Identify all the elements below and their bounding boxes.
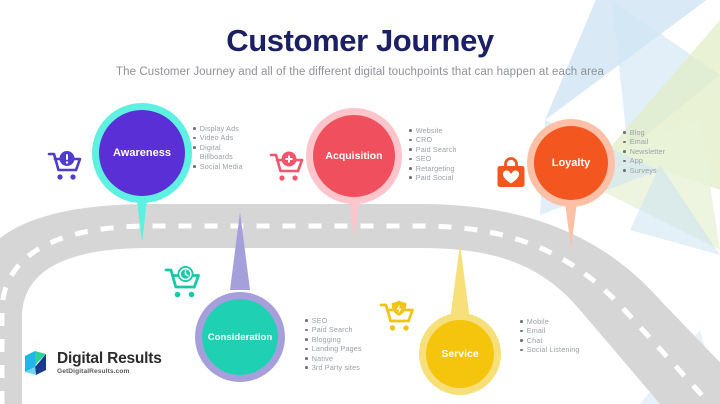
logo-name: Digital Results (57, 350, 162, 367)
touchpoint-label: Social Media (200, 162, 243, 171)
bullet-icon (305, 348, 308, 351)
cart-plus-icon (268, 148, 308, 186)
list-item: SEO (409, 154, 489, 163)
logo-text-block: Digital Results GetDigitalResults.com (57, 350, 162, 376)
touchpoint-label: Newsletter (630, 147, 665, 156)
cart-clock-icon (163, 262, 205, 302)
brand-logo[interactable]: Digital Results GetDigitalResults.com (24, 350, 162, 376)
touchpoint-label: Social Listening (527, 345, 580, 354)
list-item: Email (623, 137, 703, 146)
touchpoint-label: Surveys (630, 166, 657, 175)
list-item: Paid Social (409, 173, 489, 182)
touchpoint-label: SEO (416, 154, 432, 163)
list-item: Social Listening (520, 345, 605, 354)
list-item: Paid Search (409, 145, 489, 154)
stage-pin-service[interactable]: Service (426, 320, 494, 388)
touchpoint-label: Digital (200, 143, 221, 152)
page-title: Customer Journey (0, 22, 720, 60)
touchpoint-label: Email (630, 137, 649, 146)
touchpoint-label: Blog (630, 128, 645, 137)
bullet-icon (305, 329, 308, 332)
list-item: App (623, 156, 703, 165)
list-item: Surveys (623, 166, 703, 175)
bullet-icon (193, 137, 196, 140)
service-circle[interactable]: Service (426, 320, 494, 388)
bullet-icon (623, 169, 626, 172)
touchpoint-label: 3rd Party sites (312, 363, 360, 372)
bullet-icon (305, 338, 308, 341)
service-label: Service (441, 348, 478, 360)
awareness-circle[interactable]: Awareness (99, 110, 185, 196)
touchpoint-label: Landing Pages (312, 344, 362, 353)
list-item: Newsletter (623, 147, 703, 156)
bullet-icon (409, 148, 412, 151)
touchpoint-label: Website (416, 126, 443, 135)
stage-pin-awareness[interactable]: Awareness (99, 110, 185, 196)
stage-pin-loyalty[interactable]: Loyalty (534, 126, 608, 200)
consideration-circle[interactable]: Consideration (202, 299, 278, 375)
touchpoint-label: Email (527, 326, 546, 335)
loyalty-label: Loyalty (552, 157, 591, 169)
list-item: Video Ads (193, 133, 273, 142)
cart-shield-icon (378, 297, 418, 335)
touchpoints-awareness: Display Ads Video Ads Digital Billboards… (193, 124, 273, 171)
pin-tail-consideration (230, 212, 250, 290)
list-item: 3rd Party sites (305, 363, 390, 372)
list-item: Retargeting (409, 164, 489, 173)
touchpoints-acquisition: Website CRO Paid Search SEO Retargeting … (409, 126, 489, 182)
awareness-label: Awareness (113, 147, 171, 159)
acquisition-circle[interactable]: Acquisition (313, 115, 395, 197)
header: Customer Journey The Customer Journey an… (0, 22, 720, 80)
bullet-icon (623, 150, 626, 153)
bullet-icon (623, 160, 626, 163)
touchpoint-label: Video Ads (200, 133, 234, 142)
bullet-icon (623, 141, 626, 144)
touchpoint-label: Native (312, 354, 333, 363)
stage-pin-consideration[interactable]: Consideration (202, 299, 278, 375)
stage-pin-acquisition[interactable]: Acquisition (313, 115, 395, 197)
bullet-icon (305, 366, 308, 369)
touchpoint-label: CRO (416, 135, 432, 144)
bullet-icon (520, 339, 523, 342)
list-item: Display Ads (193, 124, 273, 133)
list-item: Social Media (193, 162, 273, 171)
touchpoint-label: Retargeting (416, 164, 455, 173)
touchpoint-label: Billboards (200, 152, 233, 161)
list-item: Website (409, 126, 489, 135)
list-item: Landing Pages (305, 344, 390, 353)
touchpoint-label: Paid Social (416, 173, 454, 182)
touchpoint-label: Mobile (527, 317, 549, 326)
touchpoint-label: Paid Search (312, 325, 353, 334)
list-item: Native (305, 354, 390, 363)
list-item: CRO (409, 135, 489, 144)
logo-url: GetDigitalResults.com (57, 367, 162, 376)
list-item: Digital (193, 143, 273, 152)
bullet-icon (623, 131, 626, 134)
bullet-icon (305, 319, 308, 322)
cart-alert-icon (46, 147, 86, 185)
bullet-icon (409, 129, 412, 132)
bullet-icon (305, 357, 308, 360)
loyalty-circle[interactable]: Loyalty (534, 126, 608, 200)
bullet-icon (409, 139, 412, 142)
pin-tail-service (450, 244, 470, 320)
bullet-icon (520, 349, 523, 352)
bullet-icon (520, 330, 523, 333)
touchpoint-label: SEO (312, 316, 328, 325)
list-item: Billboards (193, 152, 273, 161)
bullet-icon (409, 158, 412, 161)
bullet-icon (409, 167, 412, 170)
touchpoint-label: Display Ads (200, 124, 239, 133)
touchpoint-label: Paid Search (416, 145, 457, 154)
bullet-icon (193, 146, 196, 149)
bullet-icon (193, 127, 196, 130)
touchpoints-service: Mobile Email Chat Social Listening (520, 317, 605, 355)
list-item: Blog (623, 128, 703, 137)
bag-heart-icon (494, 157, 528, 191)
bullet-icon (193, 165, 196, 168)
bullet-icon (409, 176, 412, 179)
touchpoint-label: App (630, 156, 643, 165)
list-item: Email (520, 326, 605, 335)
touchpoint-label: Blogging (312, 335, 341, 344)
list-item: Chat (520, 336, 605, 345)
acquisition-label: Acquisition (325, 150, 382, 162)
list-item: Mobile (520, 317, 605, 326)
infographic-canvas: Customer Journey The Customer Journey an… (0, 0, 720, 404)
touchpoint-label: Chat (527, 336, 543, 345)
bullet-icon (520, 320, 523, 323)
page-subtitle: The Customer Journey and all of the diff… (0, 65, 720, 80)
consideration-label: Consideration (208, 332, 273, 343)
list-item: Blogging (305, 335, 390, 344)
touchpoints-loyalty: Blog Email Newsletter App Surveys (623, 128, 703, 175)
digital-results-logo-mark (24, 350, 50, 376)
